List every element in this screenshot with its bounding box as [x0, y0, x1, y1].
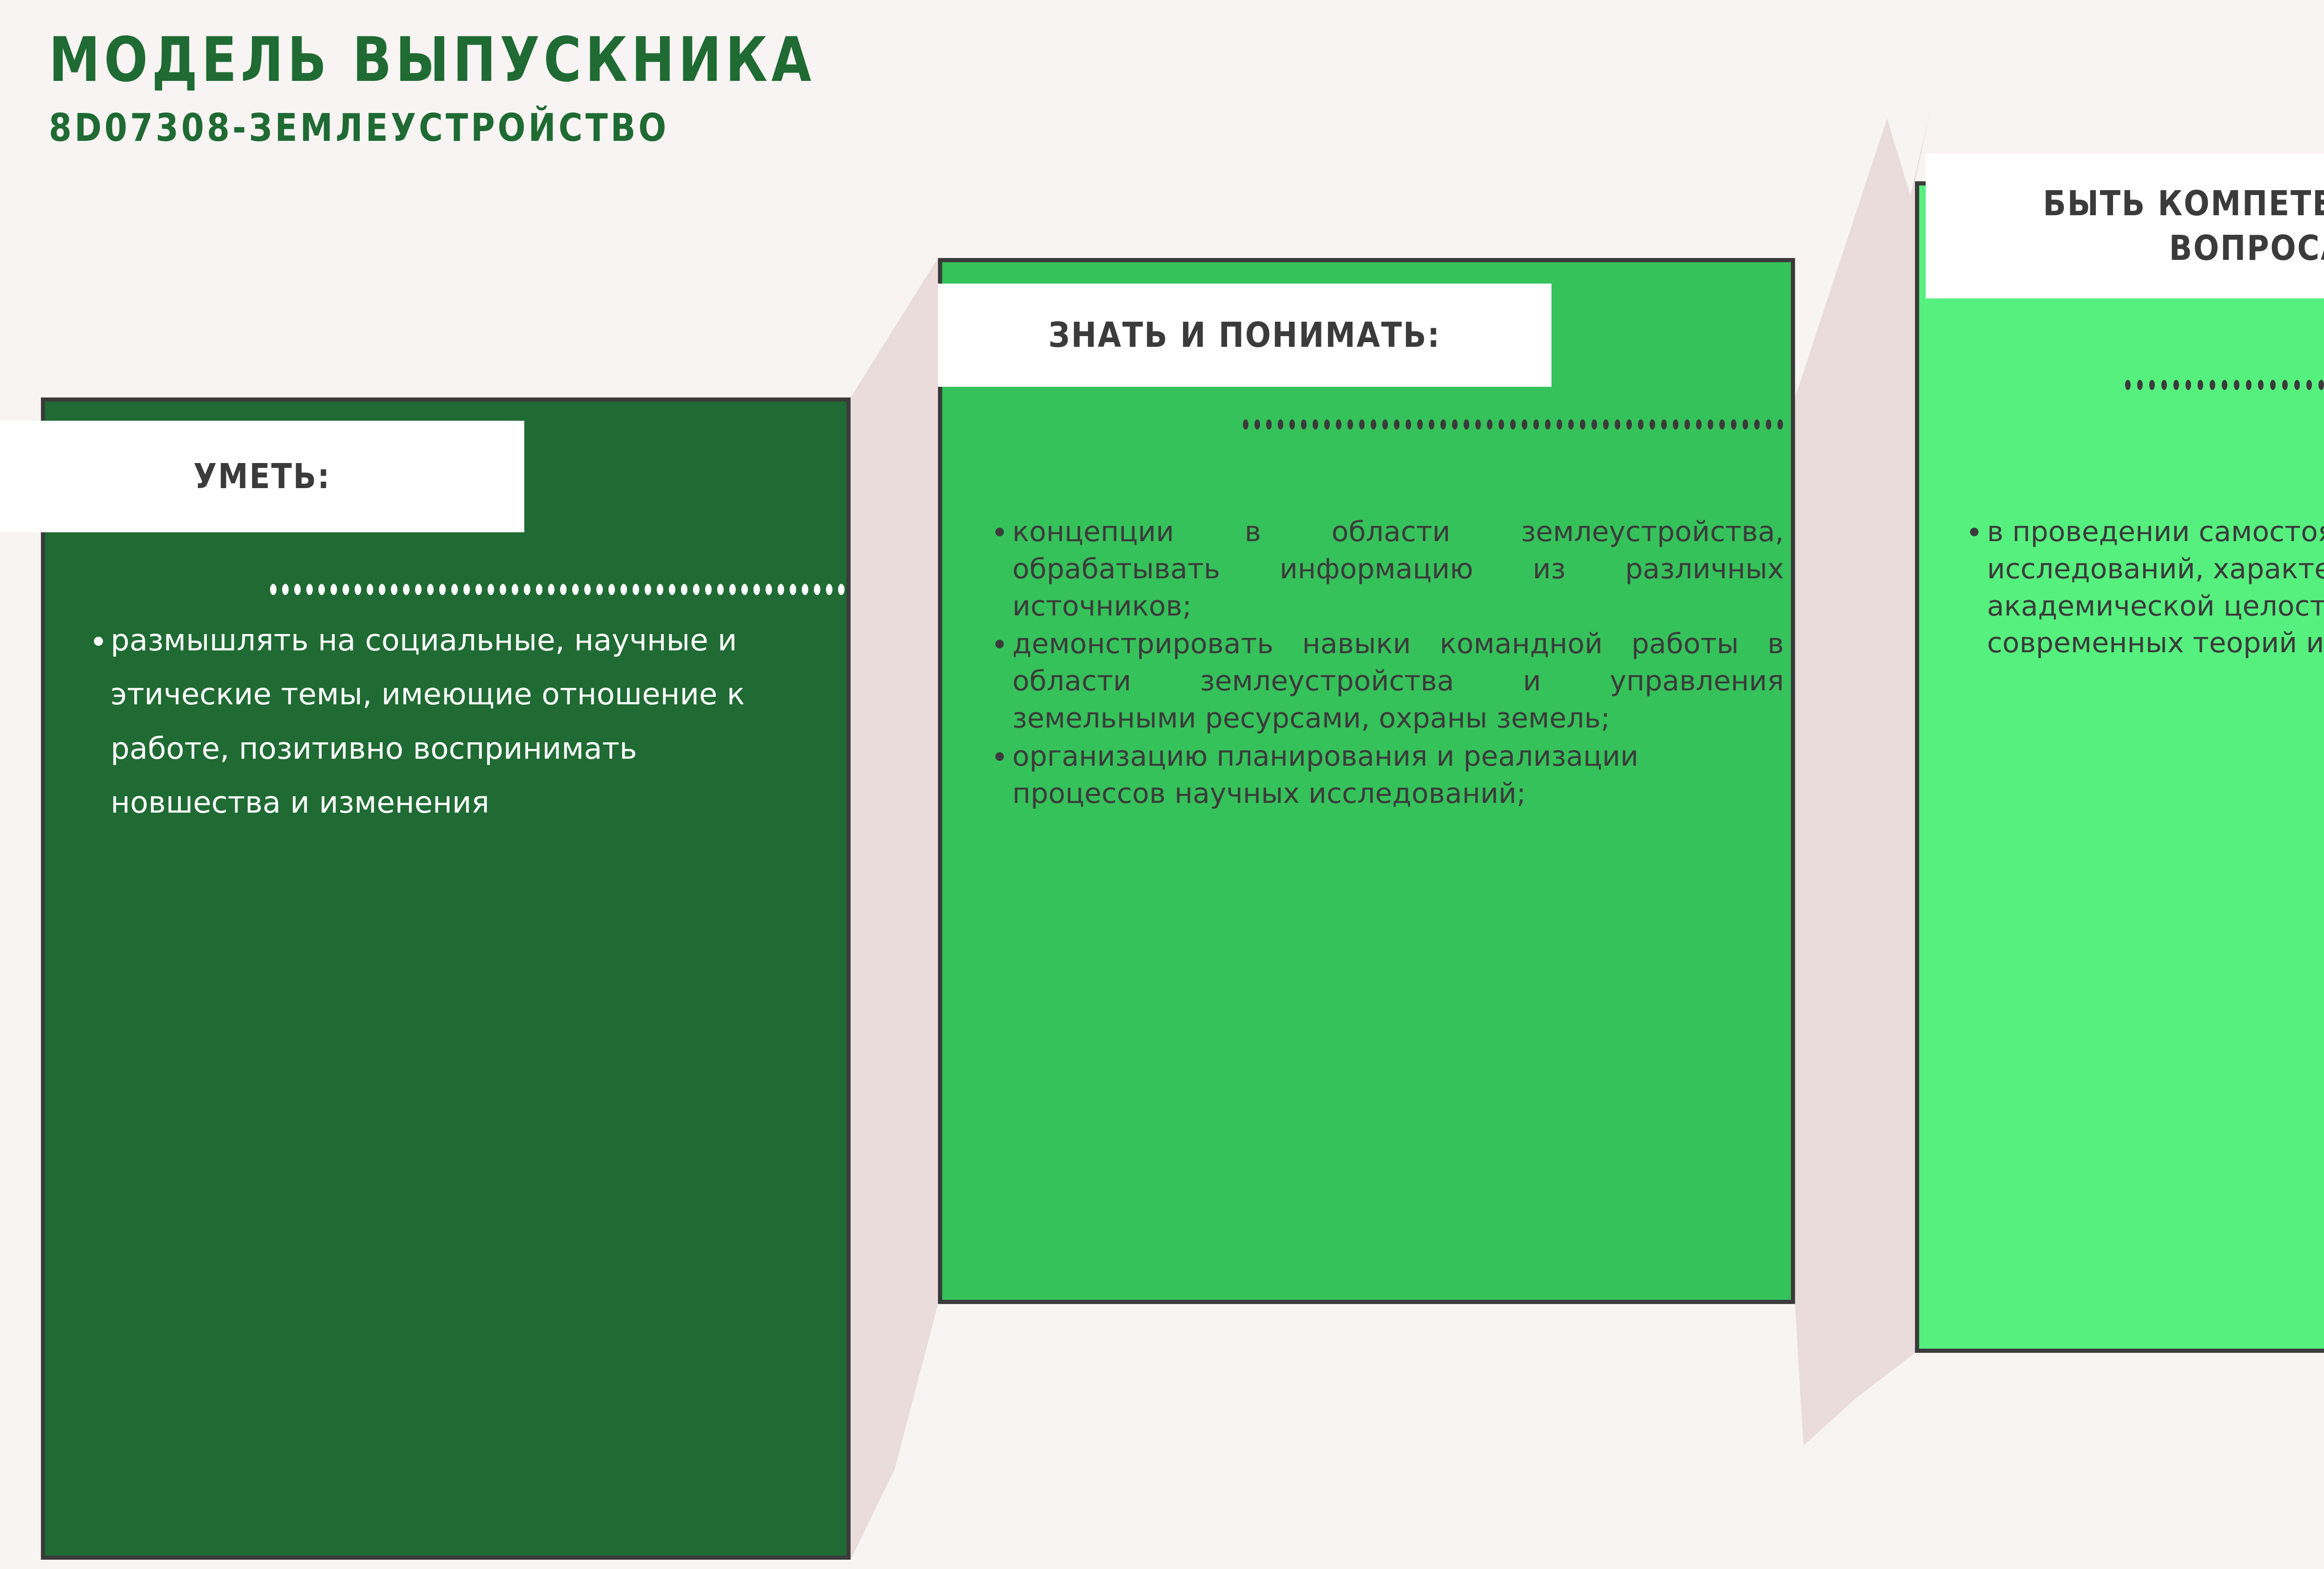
list-item: в проведении самостоятельных научных исс…: [1959, 514, 2324, 662]
shadow-card1-to-card2: [851, 258, 938, 1560]
card-byt-kompetentnym-body: в проведении самостоятельных научных исс…: [1959, 514, 2324, 662]
card-znat-i-ponimat-heading-text: ЗНАТЬ И ПОНИМАТЬ:: [1049, 314, 1441, 356]
list-item: концепции в области землеустройства, обр…: [984, 514, 1784, 625]
title-subtitle-line: 8D07308-ЗЕМЛЕУСТРОЙСТВО: [49, 106, 1088, 150]
card-umet-heading-text: УМЕТЬ:: [193, 456, 330, 497]
card-znat-i-ponimat-heading-plate: ЗНАТЬ И ПОНИМАТЬ:: [938, 284, 1552, 387]
list-item: демонстрировать навыки командной работы …: [984, 626, 1784, 737]
card-znat-i-ponimat-body: концепции в области землеустройства, обр…: [984, 514, 1784, 813]
card-umet-body: размышлять на социальные, научные и этич…: [83, 614, 813, 830]
card-byt-kompetentnym-dotted-divider: [2124, 379, 2324, 391]
slide-canvas: МОДЕЛЬ ВЫПУСКНИКА 8D07308-ЗЕМЛЕУСТРОЙСТВ…: [0, 0, 2324, 1569]
title-main-line: МОДЕЛЬ ВЫПУСКНИКА: [49, 28, 1064, 93]
card-byt-kompetentnym-heading-text: БЫТЬ КОМПЕТЕНТНЫМ В ВОПРОСАХ:: [1967, 181, 2324, 271]
card-umet-dotted-divider: [270, 583, 848, 596]
card-byt-kompetentnym-list: в проведении самостоятельных научных исс…: [1959, 514, 2324, 662]
page-title: МОДЕЛЬ ВЫПУСКНИКА 8D07308-ЗЕМЛЕУСТРОЙСТВ…: [49, 28, 1257, 150]
card-znat-i-ponimat-dotted-divider: [1242, 418, 1791, 430]
list-item: размышлять на социальные, научные и этич…: [83, 614, 813, 830]
list-item: организацию планирования и реализации пр…: [984, 738, 1784, 813]
card-byt-kompetentnym[interactable]: [1915, 181, 2324, 1353]
card-byt-kompetentnym-heading-plate: БЫТЬ КОМПЕТЕНТНЫМ В ВОПРОСАХ:: [1926, 153, 2324, 298]
card-umet[interactable]: [41, 397, 851, 1560]
shadow-card2-to-card3: [1795, 107, 1931, 1446]
card-znat-i-ponimat-list: концепции в области землеустройства, обр…: [984, 514, 1784, 812]
card-umet-list: размышлять на социальные, научные и этич…: [83, 614, 813, 830]
card-umet-heading-plate: УМЕТЬ:: [0, 421, 524, 532]
